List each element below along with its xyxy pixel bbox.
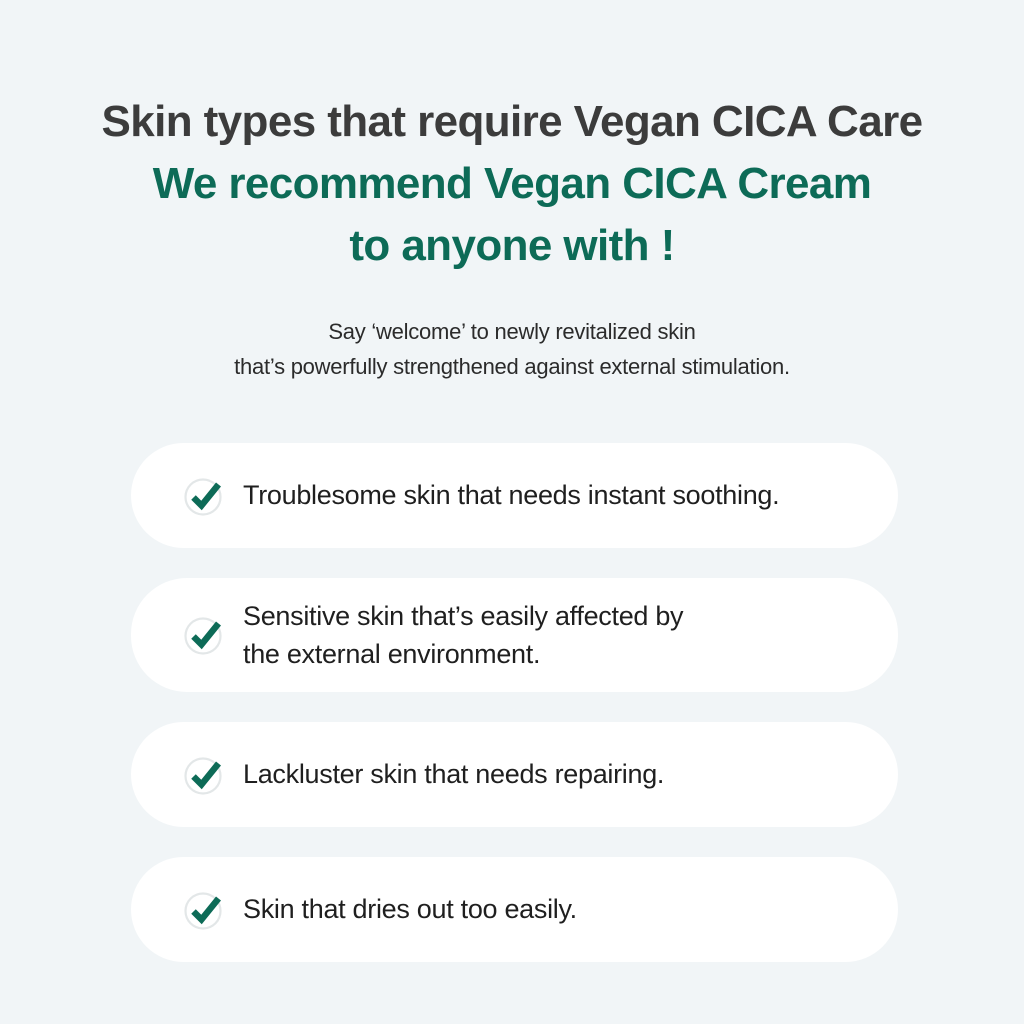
benefit-card: Lackluster skin that needs repairing. — [131, 722, 898, 827]
headline-line-1: Skin types that require Vegan CICA Care — [0, 92, 1024, 153]
check-circle-icon — [183, 888, 227, 932]
check-circle-icon — [183, 753, 227, 797]
benefit-card-text: Skin that dries out too easily. — [243, 890, 577, 928]
check-circle-icon — [183, 474, 227, 518]
benefit-card: Sensitive skin that’s easily affected by… — [131, 578, 898, 692]
benefit-card-text: Troublesome skin that needs instant soot… — [243, 476, 779, 514]
benefit-card-text: Sensitive skin that’s easily affected by… — [243, 597, 683, 674]
subtitle-line-1: Say ‘welcome’ to newly revitalized skin — [0, 315, 1024, 350]
benefit-card-list: Troublesome skin that needs instant soot… — [131, 443, 898, 962]
benefit-card-text: Lackluster skin that needs repairing. — [243, 755, 664, 793]
headline-line-3: to anyone with ! — [0, 215, 1024, 277]
benefit-text-line: Skin that dries out too easily. — [243, 890, 577, 928]
benefit-text-line: Sensitive skin that’s easily affected by — [243, 597, 683, 635]
benefit-text-line: the external environment. — [243, 635, 683, 673]
promo-page: Skin types that require Vegan CICA Care … — [0, 0, 1024, 1024]
benefit-card: Skin that dries out too easily. — [131, 857, 898, 962]
benefit-text-line: Lackluster skin that needs repairing. — [243, 755, 664, 793]
headline-group: Skin types that require Vegan CICA Care … — [0, 92, 1024, 278]
benefit-text-line: Troublesome skin that needs instant soot… — [243, 476, 779, 514]
check-circle-icon — [183, 613, 227, 657]
headline-line-2: We recommend Vegan CICA Cream — [0, 153, 1024, 215]
subtitle-group: Say ‘welcome’ to newly revitalized skin … — [0, 315, 1024, 385]
subtitle-line-2: that’s powerfully strengthened against e… — [0, 350, 1024, 385]
benefit-card: Troublesome skin that needs instant soot… — [131, 443, 898, 548]
